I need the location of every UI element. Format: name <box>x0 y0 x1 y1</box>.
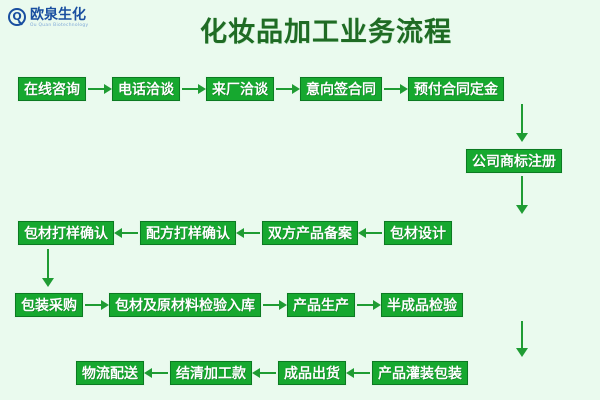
flow-diagram: 在线咨询电话洽谈来厂洽谈意向签合同预付合同定金 公司商标注册 包材打样确认配方打… <box>0 60 600 400</box>
arrow-head-down-icon <box>516 205 528 214</box>
arrow-head-down-icon <box>516 133 528 142</box>
arrow-shaft <box>366 232 382 234</box>
header: Q 欧泉生化 Ou Quan Biotechnology 化妆品加工业务流程 <box>0 0 600 60</box>
arrow-right-icon <box>382 83 408 95</box>
arrow-left-icon <box>114 227 140 239</box>
flow-row-3: 包材打样确认配方打样确认双方产品备案包材设计 <box>18 220 452 246</box>
arrow-shaft <box>182 88 198 90</box>
arrow-shaft <box>354 372 370 374</box>
arrow-head <box>400 84 408 94</box>
arrow-head <box>198 84 206 94</box>
flow-node[interactable]: 包装采购 <box>15 293 83 317</box>
flow-row-4: 包装采购包材及原材料检验入库产品生产半成品检验 <box>15 292 463 318</box>
flow-node[interactable]: 预付合同定金 <box>408 77 504 101</box>
arrow-right-icon <box>83 299 109 311</box>
arrow-head <box>101 300 109 310</box>
flow-node[interactable]: 产品灌装包装 <box>372 361 468 385</box>
connector-shaft <box>47 249 49 279</box>
connector-shaft <box>521 176 523 206</box>
arrow-head <box>236 228 244 238</box>
connector-down-semifinished-to-filling <box>516 321 528 357</box>
connector-shaft <box>521 104 523 134</box>
arrow-shaft <box>357 304 373 306</box>
flow-node[interactable]: 来厂洽谈 <box>206 77 274 101</box>
flow-row-1: 在线咨询电话洽谈来厂洽谈意向签合同预付合同定金 <box>18 76 504 102</box>
connector-down-trademark-to-packaging-design <box>516 176 528 214</box>
arrow-shaft <box>244 232 260 234</box>
flow-node[interactable]: 成品出货 <box>278 361 346 385</box>
arrow-left-icon <box>144 367 170 379</box>
arrow-left-icon <box>346 367 372 379</box>
arrow-left-icon <box>252 367 278 379</box>
flow-row-5: 物流配送结清加工款成品出货产品灌装包装 <box>76 360 468 386</box>
connector-down-prepayment-to-trademark <box>516 104 528 142</box>
flow-node[interactable]: 物流配送 <box>76 361 144 385</box>
flow-node[interactable]: 公司商标注册 <box>466 149 562 173</box>
arrow-head <box>104 84 112 94</box>
flow-node[interactable]: 结清加工款 <box>170 361 252 385</box>
flow-node[interactable]: 双方产品备案 <box>262 221 358 245</box>
arrow-head <box>114 228 122 238</box>
arrow-shaft <box>152 372 168 374</box>
arrow-shaft <box>263 304 279 306</box>
arrow-head <box>373 300 381 310</box>
arrow-head <box>279 300 287 310</box>
flow-row-2: 公司商标注册 <box>466 148 562 174</box>
arrow-head <box>252 368 260 378</box>
arrow-left-icon <box>236 227 262 239</box>
arrow-head <box>292 84 300 94</box>
arrow-shaft <box>276 88 292 90</box>
page-title: 化妆品加工业务流程 <box>0 10 600 49</box>
flowchart-page: Q 欧泉生化 Ou Quan Biotechnology 化妆品加工业务流程 在… <box>0 0 600 400</box>
arrow-shaft <box>384 88 400 90</box>
arrow-right-icon <box>86 83 112 95</box>
arrow-head-down-icon <box>516 348 528 357</box>
arrow-shaft <box>260 372 276 374</box>
flow-node[interactable]: 意向签合同 <box>300 77 382 101</box>
flow-node[interactable]: 配方打样确认 <box>140 221 236 245</box>
arrow-right-icon <box>355 299 381 311</box>
arrow-head-down-icon <box>42 278 54 287</box>
arrow-right-icon <box>180 83 206 95</box>
arrow-shaft <box>122 232 138 234</box>
arrow-head <box>358 228 366 238</box>
arrow-head <box>346 368 354 378</box>
connector-shaft <box>521 321 523 349</box>
flow-node[interactable]: 包材设计 <box>384 221 452 245</box>
arrow-head <box>144 368 152 378</box>
arrow-left-icon <box>358 227 384 239</box>
flow-node[interactable]: 电话洽谈 <box>112 77 180 101</box>
flow-node[interactable]: 包材打样确认 <box>18 221 114 245</box>
flow-node[interactable]: 半成品检验 <box>381 293 463 317</box>
arrow-shaft <box>85 304 101 306</box>
flow-node[interactable]: 包材及原材料检验入库 <box>109 293 261 317</box>
arrow-shaft <box>88 88 104 90</box>
flow-node[interactable]: 在线咨询 <box>18 77 86 101</box>
arrow-right-icon <box>261 299 287 311</box>
connector-down-sample-confirm-to-purchase <box>42 249 54 287</box>
flow-node[interactable]: 产品生产 <box>287 293 355 317</box>
arrow-right-icon <box>274 83 300 95</box>
